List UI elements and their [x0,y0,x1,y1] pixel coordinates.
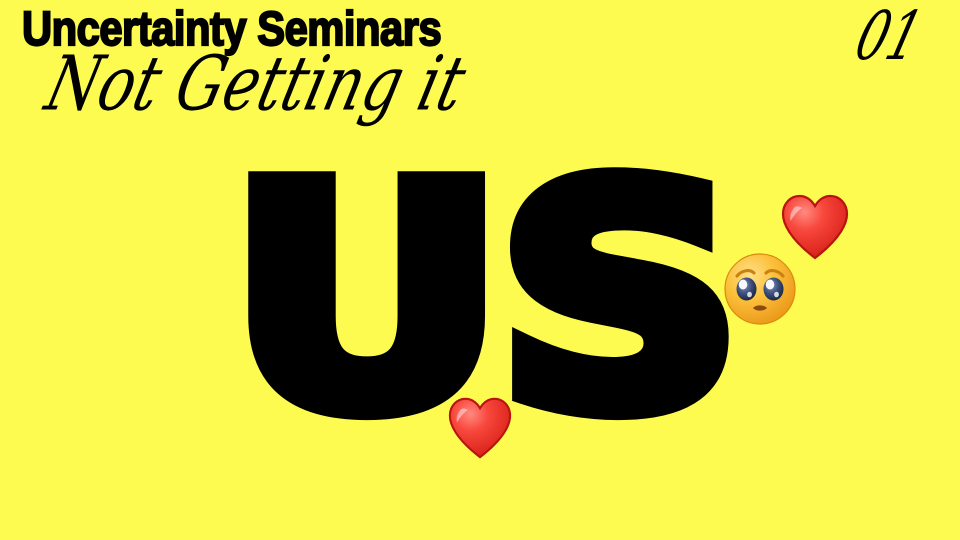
page-subtitle: Not Getting it [39,47,472,123]
pleading-face-emoji [723,252,797,326]
slide-canvas: Uncertainty Seminars Not Getting it 01 U… [0,0,960,540]
red-heart-emoji [448,396,512,460]
red-heart-emoji [781,194,849,260]
page-number: 01 [849,4,929,71]
